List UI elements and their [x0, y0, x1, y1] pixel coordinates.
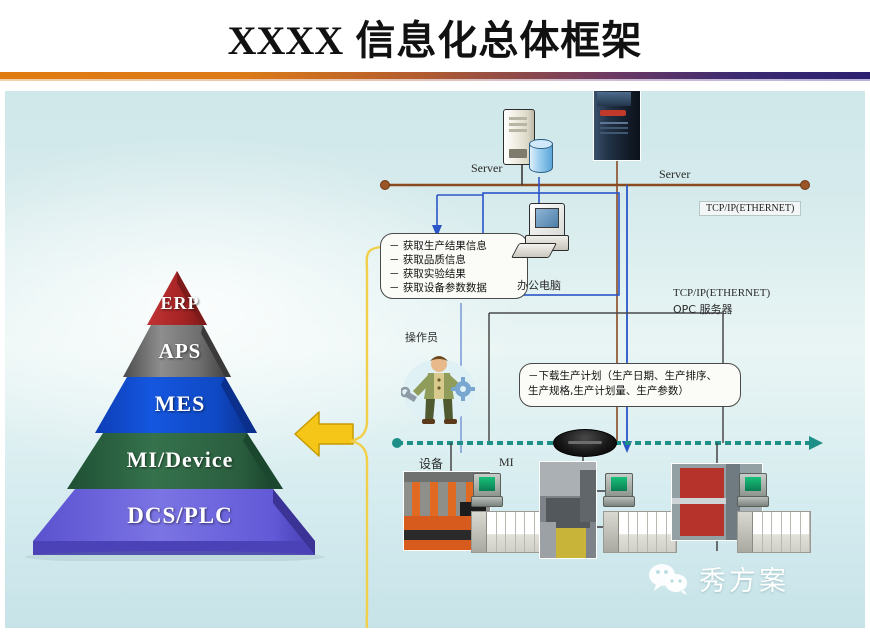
page-title-prefix: XXXX [228, 18, 344, 63]
plc-slot [629, 512, 639, 552]
download-line-2: 生产规格,生产计划量、生产参数） [528, 384, 732, 399]
mi-terminal-3 [737, 473, 769, 507]
rack-bay-lines [600, 122, 628, 124]
enterprise-architecture-pyramid: ERP APS MES MI/Device DCS/PLC [15, 221, 345, 561]
plc-io-slots [487, 512, 544, 552]
upload-item-3: － 获取设备参数数据 [389, 281, 519, 295]
keyboard-icon [511, 243, 557, 258]
plc-io-slots [619, 512, 676, 552]
tcpip-ethernet-tag: TCP/IP(ETHERNET) [699, 201, 801, 216]
pyramid-layer-label-dcs-plc: DCS/PLC [15, 503, 345, 529]
mi-monitor-icon [739, 473, 767, 497]
office-computer-label: 办公电脑 [517, 277, 561, 293]
pyramid-layer-label-aps: APS [15, 339, 345, 364]
upload-item-0: － 获取生产结果信息 [389, 239, 519, 253]
plc-slot [763, 512, 773, 552]
upload-data-callout: － 获取生产结果信息 － 获取品质信息 － 获取实验结果 － 获取设备参数数据 [380, 233, 528, 299]
plc-slot [657, 512, 667, 552]
monitor-icon [529, 203, 565, 239]
page-title: XXXX 信息化总体框架 [0, 8, 870, 66]
server-label-left: Server [471, 161, 502, 176]
mi-screen [479, 477, 495, 491]
plc-power-module [604, 512, 619, 552]
monitor-screen [535, 208, 559, 228]
plc-slot [753, 512, 763, 552]
operator-illustration [401, 347, 467, 421]
plc-slot [772, 512, 782, 552]
office-computer-icon [521, 203, 575, 259]
operator-label: 操作员 [405, 329, 438, 345]
plc-rack-3 [737, 511, 811, 553]
plc-slot [525, 512, 535, 552]
upload-item-2: － 获取实验结果 [389, 267, 519, 281]
plc-slot [782, 512, 792, 552]
plc-slot [516, 512, 526, 552]
mi-terminal-1 [471, 473, 503, 507]
mi-monitor-icon [605, 473, 633, 497]
header-divider-thin [0, 79, 870, 81]
wechat-account-name: 秀方案 [699, 559, 789, 598]
wechat-icon [646, 562, 690, 596]
header-divider-gradient [0, 72, 870, 79]
database-cylinder-icon [529, 139, 553, 173]
plc-slot [801, 512, 811, 552]
plc-slot [791, 512, 801, 552]
equipment-photo-2 [539, 461, 597, 559]
download-line-1: －下载生产计划（生产日期、生产排序、 [528, 369, 732, 384]
mi-terminal-2 [603, 473, 635, 507]
slide-content-panel: ERP APS MES MI/Device DCS/PLC [4, 90, 866, 629]
plc-slot [619, 512, 629, 552]
plc-io-slots [753, 512, 810, 552]
plc-slot [506, 512, 516, 552]
plc-slot [497, 512, 507, 552]
plc-rack-1 [471, 511, 545, 553]
plc-slot [487, 512, 497, 552]
mi-base [603, 496, 635, 507]
upload-item-1: － 获取品质信息 [389, 253, 519, 267]
page-title-main: 信息化总体框架 [355, 19, 642, 63]
slide-header: XXXX 信息化总体框架 [0, 0, 870, 72]
mi-screen [745, 477, 761, 491]
mi-base [737, 496, 769, 507]
yellow-brace-icon [345, 243, 391, 629]
plc-power-module [472, 512, 487, 552]
plc-slot [638, 512, 648, 552]
mi-screen [611, 477, 627, 491]
pyramid-layer-label-erp: ERP [15, 293, 345, 314]
rack-server-icon [593, 90, 641, 161]
opc-network-line1: TCP/IP(ETHERNET) [673, 287, 770, 299]
plc-power-module [738, 512, 753, 552]
plc-rack-2 [603, 511, 677, 553]
wechat-watermark: 秀方案 [646, 559, 789, 598]
equipment-label: 设备 [419, 455, 443, 472]
mi-base [471, 496, 503, 507]
rack-status-strip [600, 110, 626, 116]
mi-label: MI [499, 455, 514, 470]
plc-slot [648, 512, 658, 552]
network-hub-icon [553, 429, 617, 457]
download-plan-callout: －下载生产计划（生产日期、生产排序、 生产规格,生产计划量、生产参数） [519, 363, 741, 407]
mi-monitor-icon [473, 473, 501, 497]
server-label-right: Server [659, 167, 690, 182]
opc-network-line2: OPC 服务器 [673, 301, 732, 317]
rack-top-panel [597, 92, 631, 106]
